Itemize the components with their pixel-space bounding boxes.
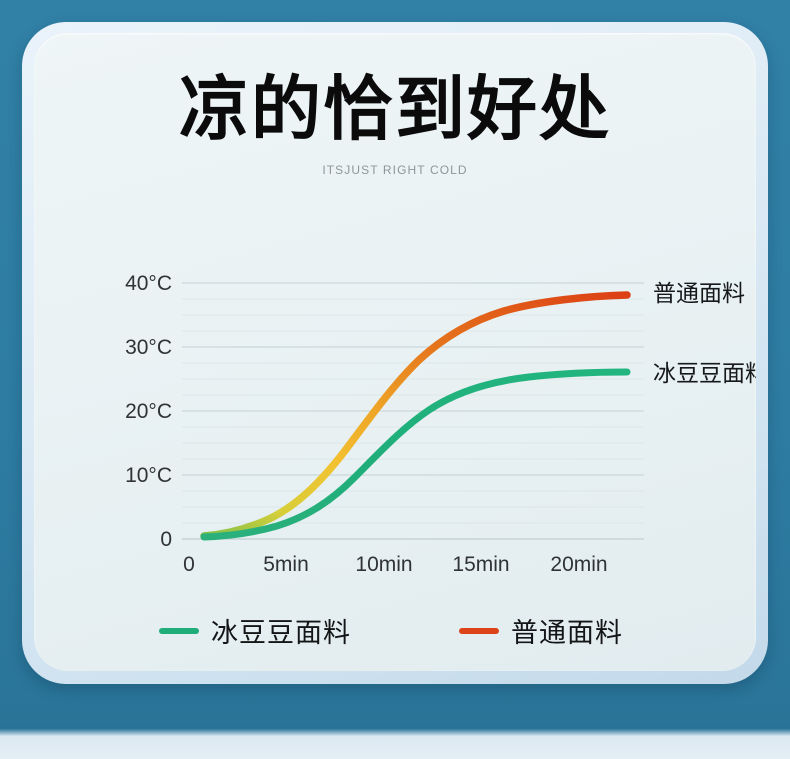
page-title: 凉的恰到好处 [34, 73, 756, 147]
y-tick-20: 20°C [125, 400, 172, 423]
series-line-cool [204, 372, 627, 537]
x-tick-15: 15min [452, 553, 509, 576]
chart-svg: 40°C 30°C 20°C 10°C 0 0 5min 10min 15min… [34, 238, 756, 588]
temperature-chart: 40°C 30°C 20°C 10°C 0 0 5min 10min 15min… [34, 238, 756, 588]
y-tick-10: 10°C [125, 464, 172, 487]
series-end-label-cool: 冰豆豆面料 [653, 361, 756, 387]
x-tick-10: 10min [355, 553, 412, 576]
y-tick-30: 30°C [125, 336, 172, 359]
x-tick-20: 20min [550, 553, 607, 576]
legend-label-normal: 普通面料 [511, 611, 623, 650]
legend-item-cool: 冰豆豆面料 [159, 611, 459, 650]
legend-swatch-cool-icon [159, 628, 199, 634]
page-subtitle: ITSJUST RIGHT COLD [34, 163, 756, 177]
series-end-label-normal: 普通面料 [653, 281, 745, 307]
x-tick-0: 0 [183, 553, 195, 576]
x-axis-labels: 0 5min 10min 15min 20min [183, 553, 607, 576]
legend-swatch-normal-icon [459, 628, 499, 634]
content-card-frame: 凉的恰到好处 ITSJUST RIGHT COLD [22, 22, 768, 684]
chart-legend: 冰豆豆面料 普通面料 [159, 611, 679, 650]
y-tick-40: 40°C [125, 272, 172, 295]
y-tick-0: 0 [160, 528, 172, 551]
title-block: 凉的恰到好处 ITSJUST RIGHT COLD [34, 73, 756, 177]
content-card: 凉的恰到好处 ITSJUST RIGHT COLD [34, 33, 756, 671]
legend-label-cool: 冰豆豆面料 [211, 611, 351, 650]
legend-item-normal: 普通面料 [459, 611, 623, 650]
product-detail-page: 凉的恰到好处 ITSJUST RIGHT COLD [0, 0, 790, 759]
x-tick-5: 5min [263, 553, 309, 576]
y-axis-labels: 40°C 30°C 20°C 10°C 0 [125, 272, 172, 551]
